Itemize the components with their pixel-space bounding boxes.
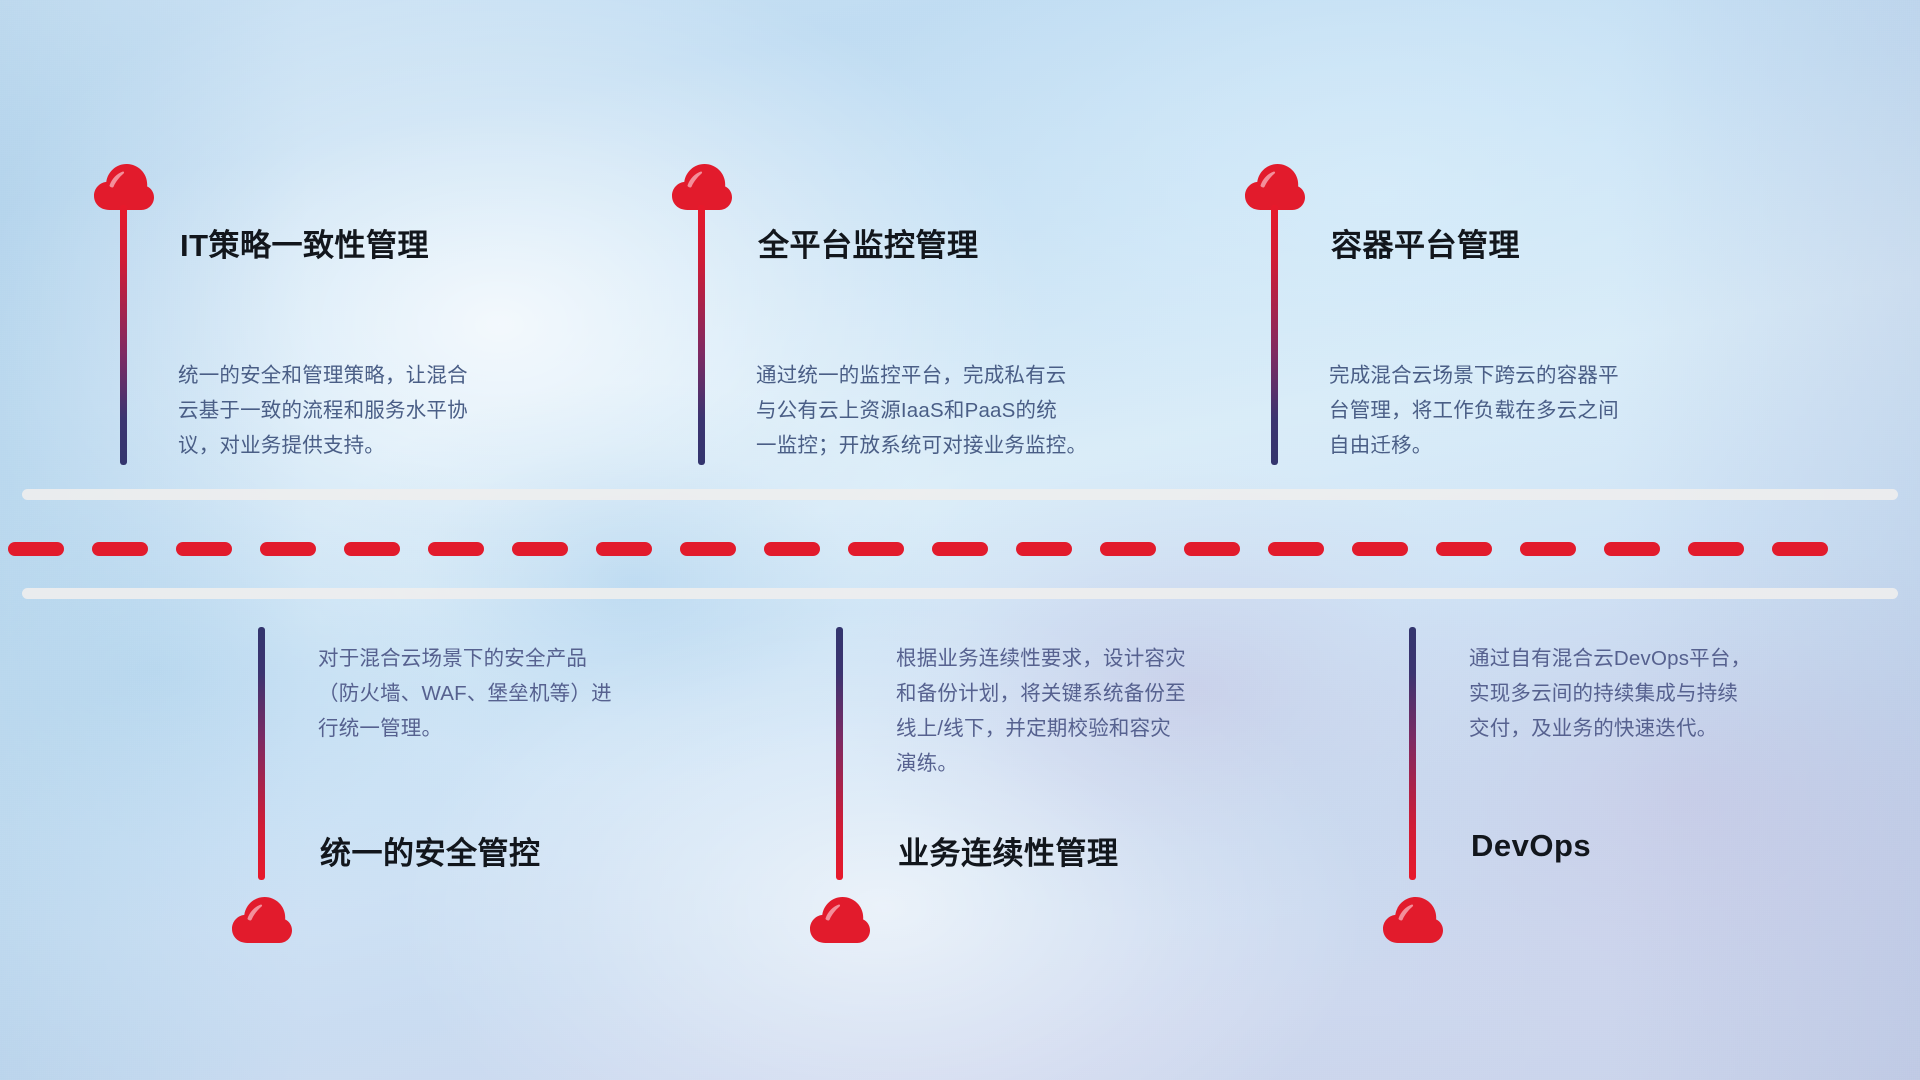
dash-segment	[932, 542, 988, 556]
body-line: 完成混合云场景下跨云的容器平	[1329, 358, 1619, 393]
stem-line	[1271, 205, 1278, 465]
panel-title: 全平台监控管理	[758, 220, 979, 265]
body-line: 实现多云间的持续集成与持续	[1469, 676, 1751, 711]
body-line: 和备份计划，将关键系统备份至	[896, 676, 1186, 711]
infographic-canvas: IT策略一致性管理 统一的安全和管理策略，让混合 云基于一致的流程和服务水平协 …	[0, 0, 1920, 1080]
body-line: 线上/线下，并定期校验和容灾	[896, 711, 1186, 746]
stem-line	[1409, 627, 1416, 880]
stem-line	[120, 205, 127, 465]
panel-body: 通过统一的监控平台，完成私有云 与公有云上资源IaaS和PaaS的统 一监控；开…	[756, 358, 1087, 463]
body-line: 交付，及业务的快速迭代。	[1469, 711, 1751, 746]
dash-segment	[1688, 542, 1744, 556]
body-line: 对于混合云场景下的安全产品	[318, 641, 612, 676]
dash-segment	[680, 542, 736, 556]
dash-segment	[1352, 542, 1408, 556]
stem-line	[698, 205, 705, 465]
body-line: （防火墙、WAF、堡垒机等）进	[318, 676, 612, 711]
dash-segment	[1772, 542, 1828, 556]
dash-segment	[1100, 542, 1156, 556]
dash-segment	[596, 542, 652, 556]
divider-dashed-line	[0, 542, 1920, 556]
body-line: 自由迁移。	[1329, 428, 1619, 463]
divider-rail-top	[22, 489, 1898, 500]
panel-title: 容器平台管理	[1331, 220, 1520, 265]
cloud-icon	[809, 895, 871, 945]
body-line: 通过统一的监控平台，完成私有云	[756, 358, 1087, 393]
body-line: 云基于一致的流程和服务水平协	[178, 393, 468, 428]
dash-segment	[1016, 542, 1072, 556]
dash-segment	[8, 542, 64, 556]
dash-segment	[512, 542, 568, 556]
body-line: 通过自有混合云DevOps平台，	[1469, 641, 1751, 676]
panel-body: 完成混合云场景下跨云的容器平 台管理，将工作负载在多云之间 自由迁移。	[1329, 358, 1619, 463]
body-line: 台管理，将工作负载在多云之间	[1329, 393, 1619, 428]
dash-segment	[1268, 542, 1324, 556]
body-line: 与公有云上资源IaaS和PaaS的统	[756, 393, 1087, 428]
dash-segment	[260, 542, 316, 556]
dash-segment	[1184, 542, 1240, 556]
body-line: 统一的安全和管理策略，让混合	[178, 358, 468, 393]
body-line: 根据业务连续性要求，设计容灾	[896, 641, 1186, 676]
panel-title: 业务连续性管理	[898, 828, 1119, 873]
dash-segment	[848, 542, 904, 556]
divider-rail-bottom	[22, 588, 1898, 599]
panel-body: 根据业务连续性要求，设计容灾 和备份计划，将关键系统备份至 线上/线下，并定期校…	[896, 641, 1186, 781]
panel-title: DevOps	[1471, 828, 1591, 864]
panel-body: 统一的安全和管理策略，让混合 云基于一致的流程和服务水平协 议，对业务提供支持。	[178, 358, 468, 463]
cloud-icon	[231, 895, 293, 945]
stem-line	[836, 627, 843, 880]
panel-body: 通过自有混合云DevOps平台， 实现多云间的持续集成与持续 交付，及业务的快速…	[1469, 641, 1751, 746]
dash-segment	[344, 542, 400, 556]
cloud-icon	[1382, 895, 1444, 945]
dash-segment	[428, 542, 484, 556]
dash-segment	[1436, 542, 1492, 556]
dash-segment	[176, 542, 232, 556]
panel-title: 统一的安全管控	[320, 828, 541, 873]
dash-segment	[1520, 542, 1576, 556]
body-line: 行统一管理。	[318, 711, 612, 746]
dash-segment	[764, 542, 820, 556]
body-line: 一监控；开放系统可对接业务监控。	[756, 428, 1087, 463]
panel-body: 对于混合云场景下的安全产品 （防火墙、WAF、堡垒机等）进 行统一管理。	[318, 641, 612, 746]
body-line: 演练。	[896, 746, 1186, 781]
panel-title: IT策略一致性管理	[180, 220, 429, 265]
stem-line	[258, 627, 265, 880]
body-line: 议，对业务提供支持。	[178, 428, 468, 463]
dash-segment	[1604, 542, 1660, 556]
dash-segment	[92, 542, 148, 556]
